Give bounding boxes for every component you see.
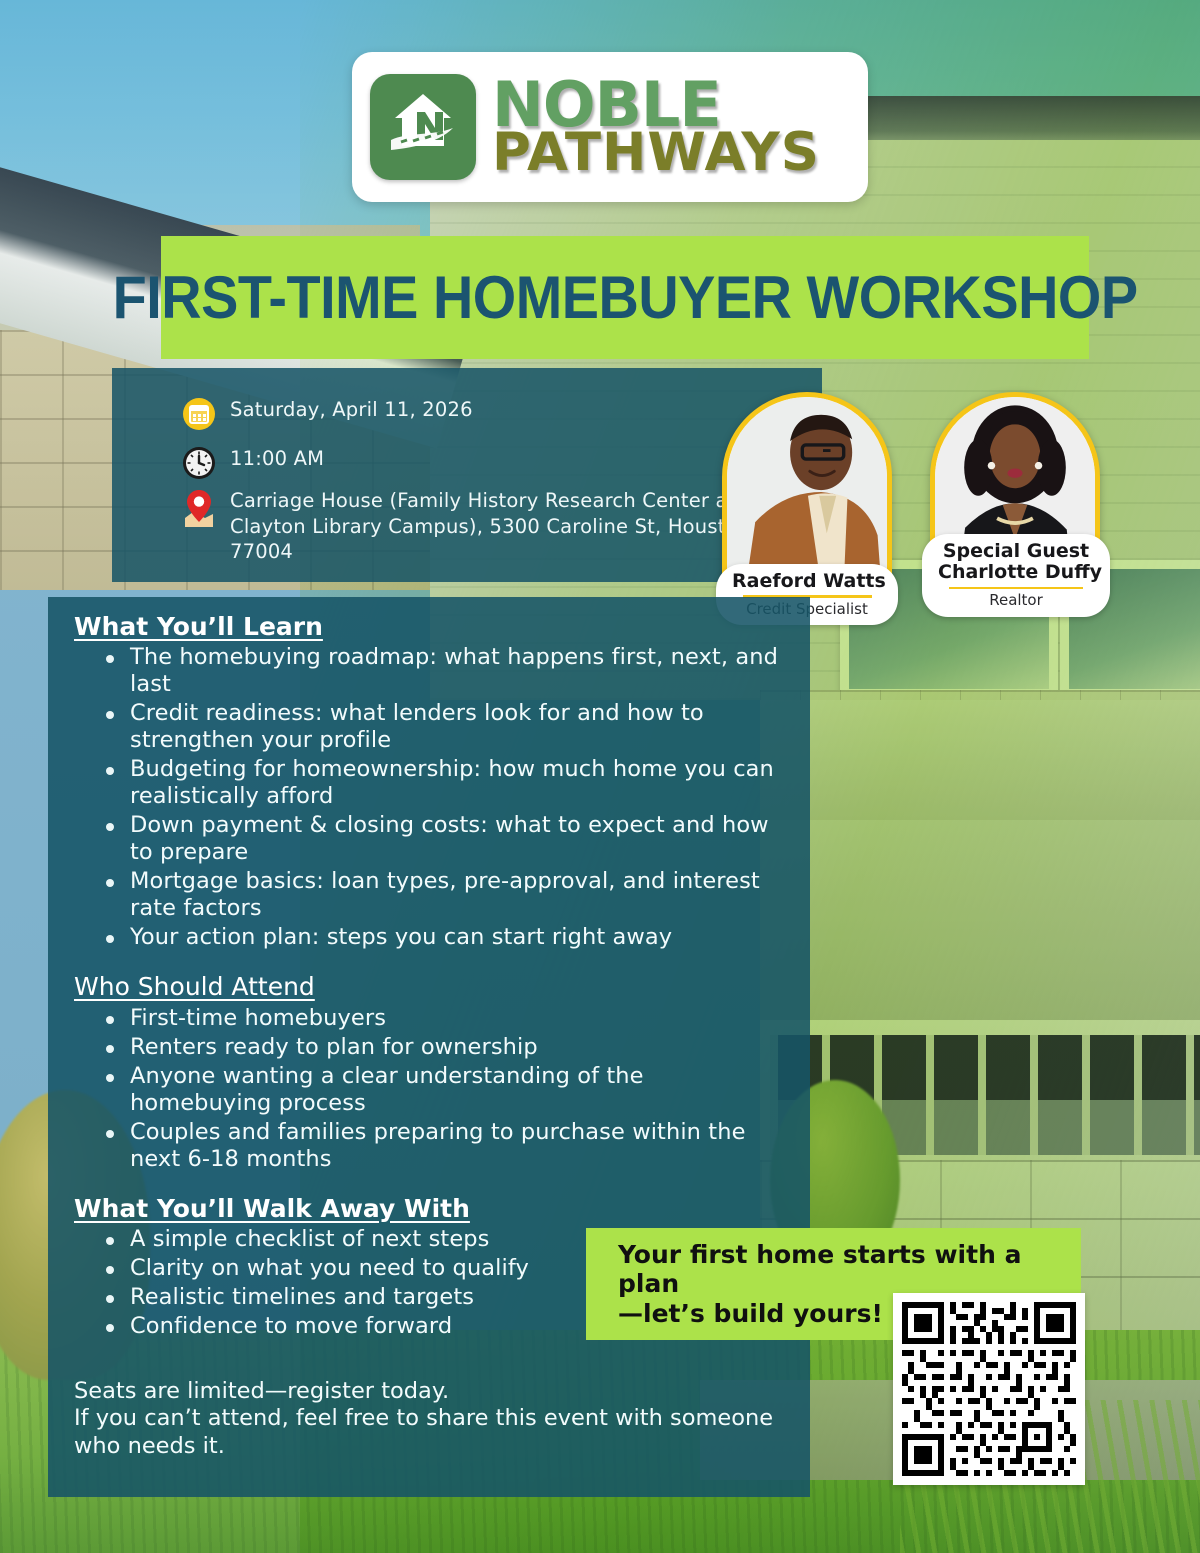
calendar-icon xyxy=(182,397,216,431)
list-item: Couples and families preparing to purcha… xyxy=(104,1119,790,1173)
speaker-prefix: Special Guest xyxy=(938,541,1094,562)
clock-icon xyxy=(182,446,216,480)
section-heading-what-youll-learn: What You’ll Learn xyxy=(74,611,810,642)
logo-house-glyph xyxy=(387,88,459,160)
spacer xyxy=(48,1175,810,1193)
qr-code-image[interactable] xyxy=(902,1302,1076,1476)
list-item: Down payment & closing costs: what to ex… xyxy=(104,812,790,866)
closing-line-2: If you can’t attend, feel free to share … xyxy=(74,1405,790,1460)
speaker-photo-frame xyxy=(722,392,892,592)
logo-wordmark: NOBLE PATHWAYS xyxy=(492,79,820,176)
speaker-name: Charlotte Duffy xyxy=(938,562,1094,583)
list-item: Mortgage basics: loan types, pre-approva… xyxy=(104,868,790,922)
nameplate-divider xyxy=(949,587,1083,590)
list-item: First-time homebuyers xyxy=(104,1005,790,1032)
section-heading-what-youll-walk-away-with: What You’ll Walk Away With xyxy=(74,1193,810,1224)
avatar xyxy=(727,397,887,587)
event-date-text: Saturday, April 11, 2026 xyxy=(230,397,473,423)
content-panel: What You’ll Learn The homebuying roadmap… xyxy=(48,597,810,1497)
brand-logo: NOBLE PATHWAYS xyxy=(352,52,868,202)
list-item: Renters ready to plan for ownership xyxy=(104,1034,790,1061)
house-with-path-logo-icon xyxy=(370,74,476,180)
qr-code[interactable] xyxy=(893,1293,1085,1485)
cta-line-2: —let’s build yours! xyxy=(618,1299,883,1328)
event-date-row: Saturday, April 11, 2026 xyxy=(182,397,473,431)
list-who-should-attend: First-time homebuyers Renters ready to p… xyxy=(48,1005,810,1173)
list-item: Anyone wanting a clear understanding of … xyxy=(104,1063,790,1117)
speaker-nameplate: Special Guest Charlotte Duffy Realtor xyxy=(922,534,1110,617)
speaker-card-charlotte-duffy: Special Guest Charlotte Duffy Realtor xyxy=(930,392,1100,592)
list-item: Budgeting for homeownership: how much ho… xyxy=(104,756,790,810)
speaker-role: Realtor xyxy=(938,592,1094,609)
section-heading-who-should-attend: Who Should Attend xyxy=(74,971,810,1002)
spacer xyxy=(48,953,810,971)
event-time-row: 11:00 AM xyxy=(182,446,324,480)
event-time-text: 11:00 AM xyxy=(230,446,324,472)
flyer-root: NOBLE PATHWAYS FIRST-TIME HOMEBUYER WORK… xyxy=(0,0,1200,1553)
title-banner: FIRST-TIME HOMEBUYER WORKSHOP xyxy=(161,236,1089,359)
spacer xyxy=(48,1342,810,1378)
page-title: FIRST-TIME HOMEBUYER WORKSHOP xyxy=(112,263,1137,332)
cta-line-1: Your first home starts with a plan xyxy=(618,1240,1021,1299)
list-item: Your action plan: steps you can start ri… xyxy=(104,924,790,951)
event-details-panel: Saturday, April 11, 2026 11:00 AM xyxy=(112,368,822,582)
speaker-card-raeford-watts: Raeford Watts Credit Specialist xyxy=(722,392,892,592)
location-pin-icon xyxy=(182,488,216,522)
list-item: Credit readiness: what lenders look for … xyxy=(104,700,790,754)
headshot-man-brown-blazer xyxy=(727,397,887,587)
speaker-name: Raeford Watts xyxy=(732,571,882,592)
list-what-youll-learn: The homebuying roadmap: what happens fir… xyxy=(48,644,810,951)
closing-line-1: Seats are limited—register today. xyxy=(74,1378,790,1405)
logo-line-pathways: PATHWAYS xyxy=(492,131,820,176)
list-item: The homebuying roadmap: what happens fir… xyxy=(104,644,790,698)
